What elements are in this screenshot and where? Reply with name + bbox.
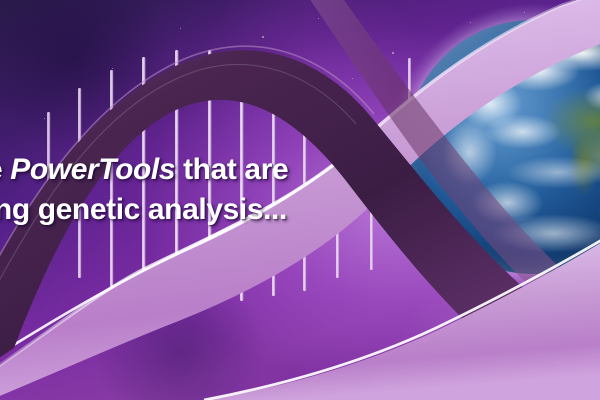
headline-brand: PowerTools — [10, 153, 175, 186]
dna-powertools-banner: e PowerTools that are ing genetic analys… — [0, 0, 600, 400]
headline: e PowerTools that are ing genetic analys… — [0, 150, 416, 230]
headline-line-2: ing genetic analysis... — [0, 190, 416, 230]
headline-line-1: e PowerTools that are — [0, 150, 416, 190]
headline-line1-suffix: that are — [175, 153, 288, 186]
headline-line1-prefix: e — [0, 153, 10, 186]
